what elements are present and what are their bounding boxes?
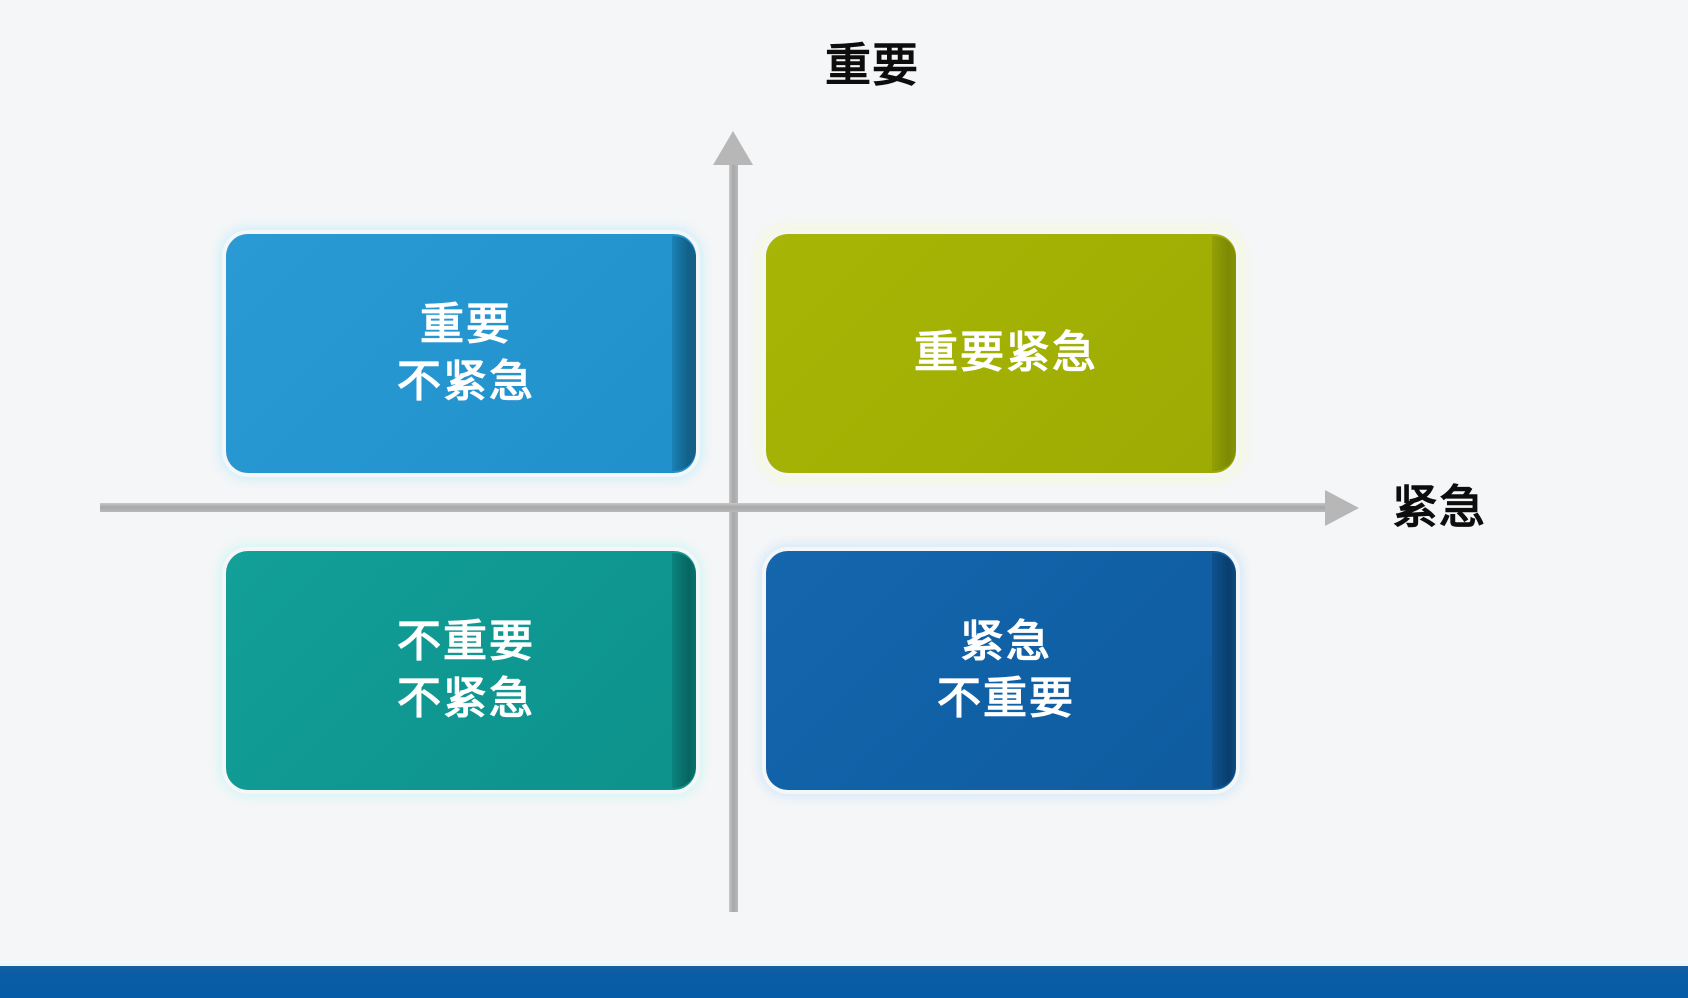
arrow-up-icon <box>713 131 753 165</box>
quadrant-3d-edge <box>1212 553 1236 788</box>
quadrant-3d-edge <box>672 236 696 471</box>
quadrant-label-line2: 不重要 <box>937 671 1075 727</box>
quadrant-label: 重要紧急 <box>904 325 1098 381</box>
quadrant-3d-edge <box>1212 236 1236 471</box>
horizontal-axis-label: 紧急 <box>1392 484 1486 530</box>
quadrant-label-line1: 重要 <box>397 297 535 353</box>
quadrant-label-line1: 重要紧急 <box>914 325 1098 381</box>
quadrant-label-line1: 不重要 <box>397 614 535 670</box>
quadrant-label: 紧急 不重要 <box>927 614 1075 727</box>
quadrant-label-line2: 不紧急 <box>397 354 535 410</box>
vertical-axis-line <box>729 150 738 912</box>
quadrant-label: 重要 不紧急 <box>387 297 535 410</box>
quadrant-label-line2: 不紧急 <box>397 671 535 727</box>
vertical-axis-label: 重要 <box>56 42 1688 88</box>
quadrant-important-urgent[interactable]: 重要紧急 <box>766 234 1236 473</box>
eisenhower-matrix-slide: 重要 紧急 重要 不紧急 重要紧急 不重要 不紧急 紧急 <box>0 0 1688 998</box>
bottom-accent-bar <box>0 966 1688 998</box>
horizontal-axis-line <box>100 503 1345 512</box>
quadrant-important-not-urgent[interactable]: 重要 不紧急 <box>226 234 696 473</box>
quadrant-urgent-not-important[interactable]: 紧急 不重要 <box>766 551 1236 790</box>
quadrant-label: 不重要 不紧急 <box>387 614 535 727</box>
quadrant-not-important-not-urgent[interactable]: 不重要 不紧急 <box>226 551 696 790</box>
quadrant-3d-edge <box>672 553 696 788</box>
quadrant-label-line1: 紧急 <box>937 614 1075 670</box>
arrow-right-icon <box>1325 490 1359 526</box>
